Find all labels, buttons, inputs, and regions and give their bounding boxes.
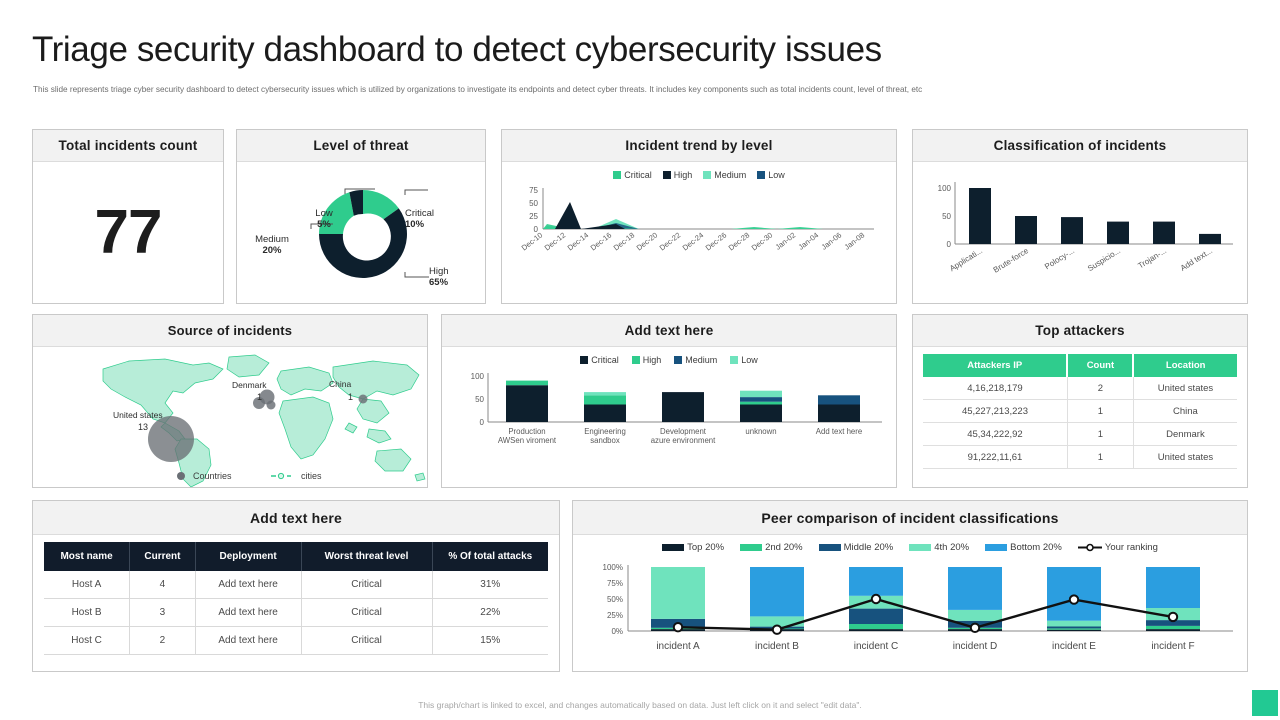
cell-location: Denmark	[1133, 423, 1237, 446]
accent-square	[1252, 690, 1278, 716]
donut-label-critical-name: Critical	[405, 208, 434, 219]
ytick-50: 50%	[607, 595, 623, 604]
xtick-incident-f: incident F	[1151, 641, 1194, 652]
legend-label-4th-20: 4th 20%	[934, 542, 969, 553]
cell-pct-total-attacks: 22%	[432, 599, 548, 627]
legend-label-2nd-20: 2nd 20%	[765, 542, 803, 553]
xtick-incident-c: incident C	[854, 641, 898, 652]
legend-item-top-20: Top 20%	[662, 542, 724, 553]
legend-item-2nd-20: 2nd 20%	[740, 542, 803, 553]
bubble-united-states	[148, 416, 194, 462]
panel-add-text-stacked-title: Add text here	[442, 315, 896, 347]
xtick-add-text-here: Add text here	[816, 427, 862, 436]
xtick-add-text: Add text...	[1179, 246, 1214, 273]
panel-level-of-threat-title: Level of threat	[237, 130, 485, 162]
xtick-dec-24: Dec-24	[681, 230, 706, 252]
world-map-bubble-chart: United states 13 Denmark 1 China 1 Count…	[33, 347, 427, 487]
xtick-jan-02: Jan-02	[774, 230, 798, 251]
donut-label-low: Low 5%	[308, 208, 340, 230]
cell-worst-threat-level: Critical	[301, 571, 432, 599]
panel-total-incidents-title: Total incidents count	[33, 130, 223, 162]
legend-swatch-low	[757, 171, 765, 179]
xtick-dec-28: Dec-28	[727, 230, 752, 252]
stack-add-text-here	[818, 395, 860, 422]
cell-count: 1	[1067, 400, 1133, 423]
donut-label-low-value: 5%	[317, 219, 331, 230]
table-header-row: Attackers IP Count Location	[923, 354, 1237, 377]
panel-classification-title: Classification of incidents	[913, 130, 1247, 162]
legend-swatch-bottom-20	[985, 544, 1007, 551]
panel-host-table: Add text here Most name Current Deployme…	[32, 500, 560, 672]
bar-trojan	[1153, 222, 1175, 244]
table-row[interactable]: Host A 4 Add text here Critical 31%	[44, 571, 548, 599]
xtick-application: Applicati...	[948, 246, 984, 273]
stack-incident-a	[651, 567, 705, 631]
xtick-dec-16: Dec-16	[589, 230, 614, 252]
map-label-denmark: Denmark	[232, 380, 267, 390]
add-text-stacked-legend: Critical High Medium Low	[442, 347, 896, 365]
cell-deployment: Add text here	[195, 571, 301, 599]
donut-label-high-name: High	[429, 266, 449, 277]
footer-note: This graph/chart is linked to excel, and…	[0, 700, 1280, 710]
cell-worst-threat-level: Critical	[301, 627, 432, 655]
xtick-suspicious: Suspicio...	[1086, 246, 1122, 273]
stack-production	[506, 381, 548, 422]
table-row[interactable]: Host C 2 Add text here Critical 15%	[44, 627, 548, 655]
bar-suspicious	[1107, 222, 1129, 244]
total-incidents-value: 77	[95, 202, 162, 264]
legend-label-your-ranking: Your ranking	[1105, 542, 1158, 553]
xtick-production-2: AWSen viroment	[498, 436, 557, 445]
ytick-0: 0%	[611, 627, 623, 636]
xtick-jan-08: Jan-08	[843, 230, 867, 251]
legend-label-high: High	[674, 170, 693, 180]
map-legend-label-countries: Countries	[193, 471, 232, 481]
legend-item-high: High	[632, 355, 662, 365]
panel-peer-comparison-title: Peer comparison of incident classificati…	[573, 501, 1247, 535]
cell-count: 1	[1067, 423, 1133, 446]
cell-deployment: Add text here	[195, 599, 301, 627]
donut-label-critical: Critical 10%	[405, 208, 453, 230]
bar-polocy	[1061, 217, 1083, 244]
legend-swatch-4th-20	[909, 544, 931, 551]
table-row[interactable]: 45,34,222,92 1 Denmark	[923, 423, 1237, 446]
stack-incident-b	[750, 567, 804, 631]
column-attackers-ip: Attackers IP	[923, 354, 1067, 377]
legend-swatch-critical	[613, 171, 621, 179]
map-label-china: China	[329, 379, 351, 389]
ytick-75: 75%	[607, 579, 623, 588]
xtick-engineering-1: Engineering	[584, 427, 626, 436]
table-row[interactable]: 4,16,218,179 2 United states	[923, 377, 1237, 400]
xtick-dec-18: Dec-18	[612, 230, 637, 252]
ytick-50: 50	[475, 395, 484, 404]
bubble-china	[359, 395, 368, 404]
xtick-production-1: Production	[508, 427, 545, 436]
panel-host-table-title: Add text here	[33, 501, 559, 535]
ytick-100: 100%	[603, 563, 623, 572]
ytick-0: 0	[947, 240, 952, 249]
xtick-dec-14: Dec-14	[566, 230, 591, 252]
cell-most-name: Host B	[44, 599, 130, 627]
legend-swatch-high	[663, 171, 671, 179]
top-attackers-table: Attackers IP Count Location 4,16,218,179…	[923, 354, 1237, 469]
peer-comparison-legend: Top 20% 2nd 20% Middle 20% 4th 20% Botto…	[573, 535, 1247, 553]
column-count: Count	[1067, 354, 1133, 377]
cell-count: 1	[1067, 446, 1133, 469]
cell-location: United states	[1133, 377, 1237, 400]
cell-attackers-ip: 4,16,218,179	[923, 377, 1067, 400]
column-deployment: Deployment	[195, 542, 301, 571]
cell-pct-total-attacks: 15%	[432, 627, 548, 655]
hosts-table: Most name Current Deployment Worst threa…	[44, 542, 548, 655]
legend-item-bottom-20: Bottom 20%	[985, 542, 1062, 553]
cell-current: 4	[130, 571, 196, 599]
table-header-row: Most name Current Deployment Worst threa…	[44, 542, 548, 571]
panel-source-of-incidents-title: Source of incidents	[33, 315, 427, 347]
stack-engineering	[584, 392, 626, 422]
bar-application	[969, 188, 991, 244]
cell-deployment: Add text here	[195, 627, 301, 655]
cell-location: United states	[1133, 446, 1237, 469]
panel-incident-trend-title: Incident trend by level	[502, 130, 896, 162]
legend-label-top-20: Top 20%	[687, 542, 724, 553]
panel-add-text-stacked: Add text here Critical High Medium Low 1…	[441, 314, 897, 488]
bar-brute-force	[1015, 216, 1037, 244]
xtick-dec-12: Dec-12	[543, 230, 568, 252]
legend-item-medium: Medium	[674, 355, 717, 365]
donut-label-medium-name: Medium	[255, 234, 289, 245]
legend-label-low: Low	[741, 355, 758, 365]
legend-swatch-medium	[674, 356, 682, 364]
legend-label-critical: Critical	[591, 355, 619, 365]
legend-item-your-ranking: Your ranking	[1078, 542, 1158, 553]
cell-most-name: Host C	[44, 627, 130, 655]
legend-swatch-top-20	[662, 544, 684, 551]
map-legend-swatch-countries	[177, 472, 185, 480]
panel-top-attackers: Top attackers Attackers IP Count Locatio…	[912, 314, 1248, 488]
panel-total-incidents: Total incidents count 77	[32, 129, 224, 304]
cell-most-name: Host A	[44, 571, 130, 599]
xtick-engineering-2: sandbox	[590, 436, 620, 445]
panel-incident-trend: Incident trend by level Critical High Me…	[501, 129, 897, 304]
world-map-landmass	[103, 355, 425, 487]
xtick-incident-b: incident B	[755, 641, 799, 652]
panel-peer-comparison: Peer comparison of incident classificati…	[572, 500, 1248, 672]
map-label-united-states: United states	[113, 410, 163, 420]
cell-attackers-ip: 91,222,11,61	[923, 446, 1067, 469]
xtick-dec-22: Dec-22	[658, 230, 683, 252]
xtick-dec-10: Dec-10	[520, 230, 545, 252]
legend-swatch-2nd-20	[740, 544, 762, 551]
xtick-dec-26: Dec-26	[704, 230, 729, 252]
page-title: Triage security dashboard to detect cybe…	[32, 30, 882, 70]
page-subtitle: This slide represents triage cyber secur…	[33, 84, 1248, 95]
column-worst-threat-level: Worst threat level	[301, 542, 432, 571]
donut-label-critical-value: 10%	[405, 219, 424, 230]
cell-worst-threat-level: Critical	[301, 599, 432, 627]
peer-comparison-stacked-chart: 100% 75% 50% 25% 0%	[573, 553, 1247, 661]
ytick-50: 50	[942, 212, 951, 221]
xtick-incident-a: incident A	[656, 641, 700, 652]
cell-attackers-ip: 45,34,222,92	[923, 423, 1067, 446]
xtick-development-2: azure environment	[651, 436, 716, 445]
xtick-incident-d: incident D	[953, 641, 997, 652]
map-value-denmark: 1	[257, 392, 262, 402]
xtick-dec-30: Dec-30	[750, 230, 775, 252]
bar-add-text	[1199, 234, 1221, 244]
column-pct-total-attacks: % Of total attacks	[432, 542, 548, 571]
legend-label-low: Low	[768, 170, 785, 180]
cell-pct-total-attacks: 31%	[432, 571, 548, 599]
legend-item-middle-20: Middle 20%	[819, 542, 894, 553]
stack-unknown	[740, 391, 782, 422]
table-row[interactable]: 45,227,213,223 1 China	[923, 400, 1237, 423]
legend-label-middle-20: Middle 20%	[844, 542, 894, 553]
cell-current: 2	[130, 627, 196, 655]
leader-line-high	[405, 272, 429, 277]
xtick-jan-06: Jan-06	[820, 230, 844, 251]
leader-line-critical	[405, 190, 428, 195]
cell-location: China	[1133, 400, 1237, 423]
ytick-25: 25	[529, 212, 538, 221]
cell-attackers-ip: 45,227,213,223	[923, 400, 1067, 423]
donut-label-high: High 65%	[429, 266, 473, 288]
xtick-polocy: Polocy-...	[1043, 246, 1076, 271]
xtick-dec-20: Dec-20	[635, 230, 660, 252]
ytick-25: 25%	[607, 611, 623, 620]
legend-swatch-critical	[580, 356, 588, 364]
ytick-0: 0	[480, 418, 485, 427]
legend-item-medium: Medium	[703, 170, 746, 180]
incident-trend-legend: Critical High Medium Low	[502, 162, 896, 180]
legend-label-medium: Medium	[714, 170, 746, 180]
legend-item-low: Low	[730, 355, 758, 365]
bubble-denmark-3	[267, 401, 276, 410]
legend-swatch-your-ranking	[1078, 543, 1102, 552]
column-most-name: Most name	[44, 542, 130, 571]
donut-label-high-value: 65%	[429, 277, 448, 288]
map-legend-label-cities: cities	[301, 471, 322, 481]
table-row[interactable]: 91,222,11,61 1 United states	[923, 446, 1237, 469]
classification-bar-chart: 100 50 0 Applicati... Brute-force Polocy…	[913, 162, 1247, 303]
xtick-development-1: Development	[660, 427, 707, 436]
legend-swatch-medium	[703, 171, 711, 179]
incident-trend-area-chart: 75 50 25 0 Dec-10 Dec-12 Dec-14 Dec-16 D…	[502, 180, 896, 292]
legend-label-medium: Medium	[685, 355, 717, 365]
column-current: Current	[130, 542, 196, 571]
donut-label-low-name: Low	[315, 208, 332, 219]
xtick-jan-04: Jan-04	[797, 230, 821, 251]
column-location: Location	[1133, 354, 1237, 377]
cell-count: 2	[1067, 377, 1133, 400]
xtick-brute-force: Brute-force	[992, 246, 1031, 275]
ytick-75: 75	[529, 186, 538, 195]
xtick-unknown: unknown	[745, 427, 776, 436]
legend-item-critical: Critical	[580, 355, 619, 365]
ytick-100: 100	[471, 372, 485, 381]
cell-current: 3	[130, 599, 196, 627]
legend-label-high: High	[643, 355, 662, 365]
xtick-trojan: Trojan-...	[1136, 246, 1168, 270]
ytick-50: 50	[529, 199, 538, 208]
environment-stacked-bar-chart: 100 50 0	[442, 365, 896, 477]
ytick-100: 100	[938, 184, 952, 193]
panel-top-attackers-title: Top attackers	[913, 315, 1247, 347]
map-value-china: 1	[348, 392, 353, 402]
table-row[interactable]: Host B 3 Add text here Critical 22%	[44, 599, 548, 627]
panel-level-of-threat: Level of threat Low 5% Critical 10%	[236, 129, 486, 304]
stack-development	[662, 392, 704, 422]
legend-item-4th-20: 4th 20%	[909, 542, 969, 553]
legend-item-low: Low	[757, 170, 785, 180]
legend-swatch-high	[632, 356, 640, 364]
legend-swatch-low	[730, 356, 738, 364]
legend-item-critical: Critical	[613, 170, 652, 180]
legend-swatch-middle-20	[819, 544, 841, 551]
donut-label-medium-value: 20%	[262, 245, 281, 256]
map-value-united-states: 13	[138, 422, 148, 432]
legend-label-critical: Critical	[624, 170, 652, 180]
donut-label-medium: Medium 20%	[246, 234, 298, 256]
legend-item-high: High	[663, 170, 693, 180]
panel-source-of-incidents: Source of incidents	[32, 314, 428, 488]
xtick-incident-e: incident E	[1052, 641, 1096, 652]
panel-classification: Classification of incidents 100 50 0 App…	[912, 129, 1248, 304]
legend-label-bottom-20: Bottom 20%	[1010, 542, 1062, 553]
